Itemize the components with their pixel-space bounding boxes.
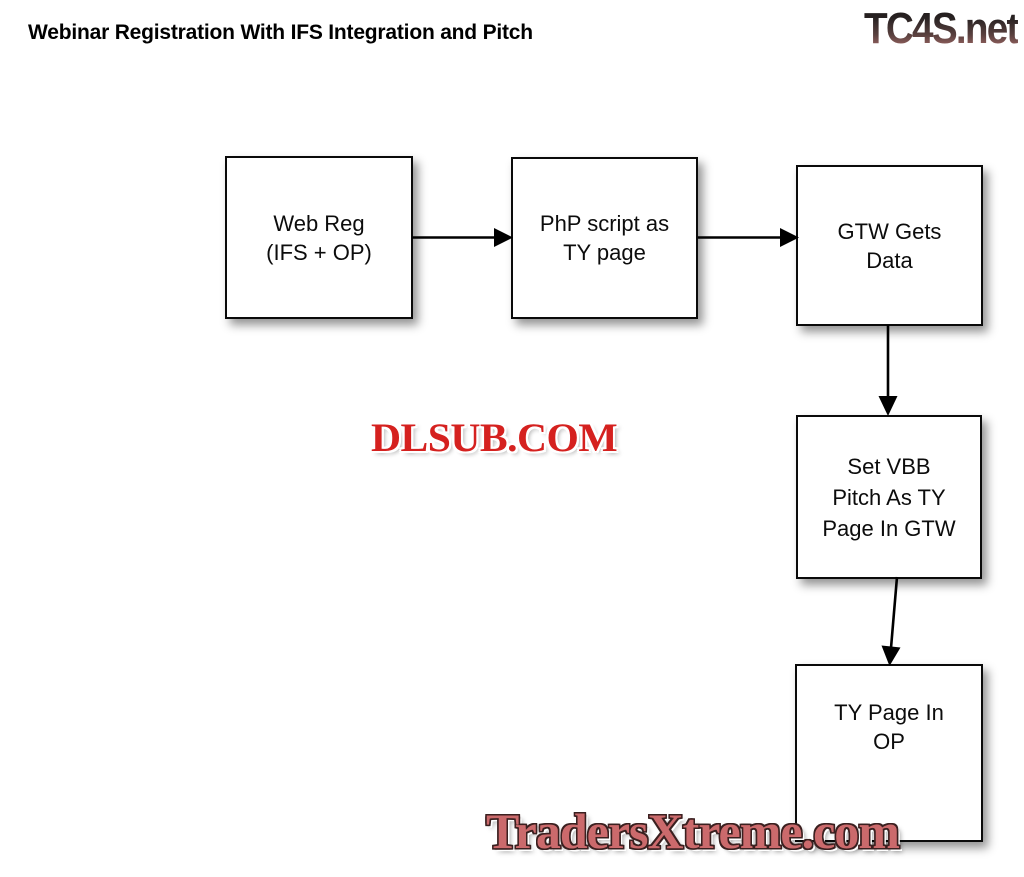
flow-node-web-reg: Web Reg (IFS + OP) bbox=[225, 156, 413, 319]
arrow-web-reg-to-php-script bbox=[410, 220, 516, 256]
arrow-set-vbb-pitch-to-ty-page-in-op bbox=[870, 576, 916, 668]
page-title: Webinar Registration With IFS Integratio… bbox=[28, 21, 533, 45]
flow-node-gtw-gets-data: GTW Gets Data bbox=[796, 165, 983, 326]
flow-node-php-script-label: PhP script as TY page bbox=[534, 209, 675, 267]
flow-node-ty-page-in-op-label: TY Page In OP bbox=[828, 698, 950, 756]
flow-node-set-vbb-pitch-label: Set VBB Pitch As TY Page In GTW bbox=[816, 451, 961, 544]
flow-node-set-vbb-pitch: Set VBB Pitch As TY Page In GTW bbox=[796, 415, 982, 579]
tc4s-brand-logo: TC4S.net bbox=[864, 4, 1018, 54]
flow-node-php-script: PhP script as TY page bbox=[511, 157, 698, 319]
diagram-canvas: Webinar Registration With IFS Integratio… bbox=[0, 0, 1024, 877]
flow-node-gtw-gets-data-label: GTW Gets Data bbox=[832, 217, 948, 275]
arrow-gtw-gets-data-to-set-vbb-pitch bbox=[868, 324, 910, 418]
watermark-dlsub: DLSUB.COM bbox=[371, 414, 617, 461]
watermark-tradersxtreme: TradersXtreme.com bbox=[486, 802, 899, 860]
flow-node-web-reg-label: Web Reg (IFS + OP) bbox=[260, 209, 378, 267]
arrow-php-script-to-gtw-gets-data bbox=[696, 220, 802, 256]
